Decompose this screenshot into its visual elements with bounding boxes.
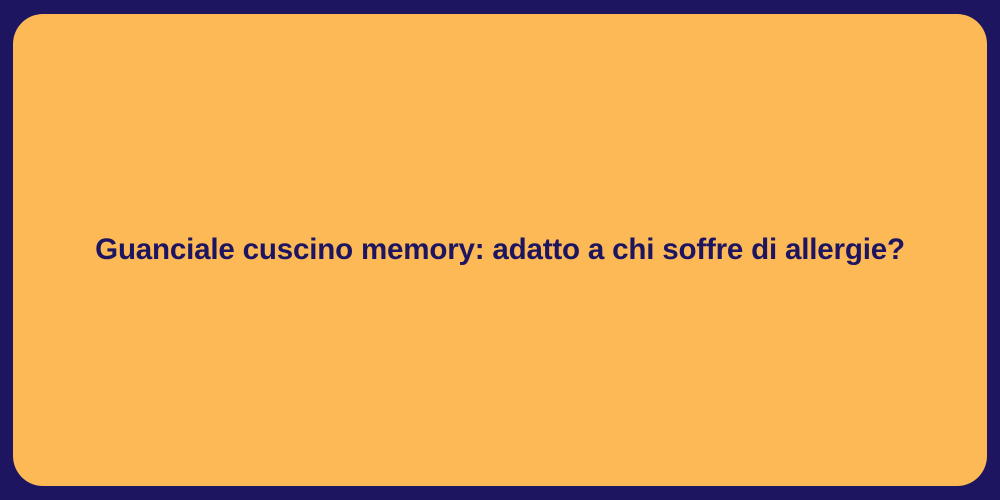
banner-frame: Guanciale cuscino memory: adatto a chi s…	[0, 0, 1000, 500]
page-title: Guanciale cuscino memory: adatto a chi s…	[56, 231, 944, 269]
banner-panel: Guanciale cuscino memory: adatto a chi s…	[13, 14, 987, 486]
